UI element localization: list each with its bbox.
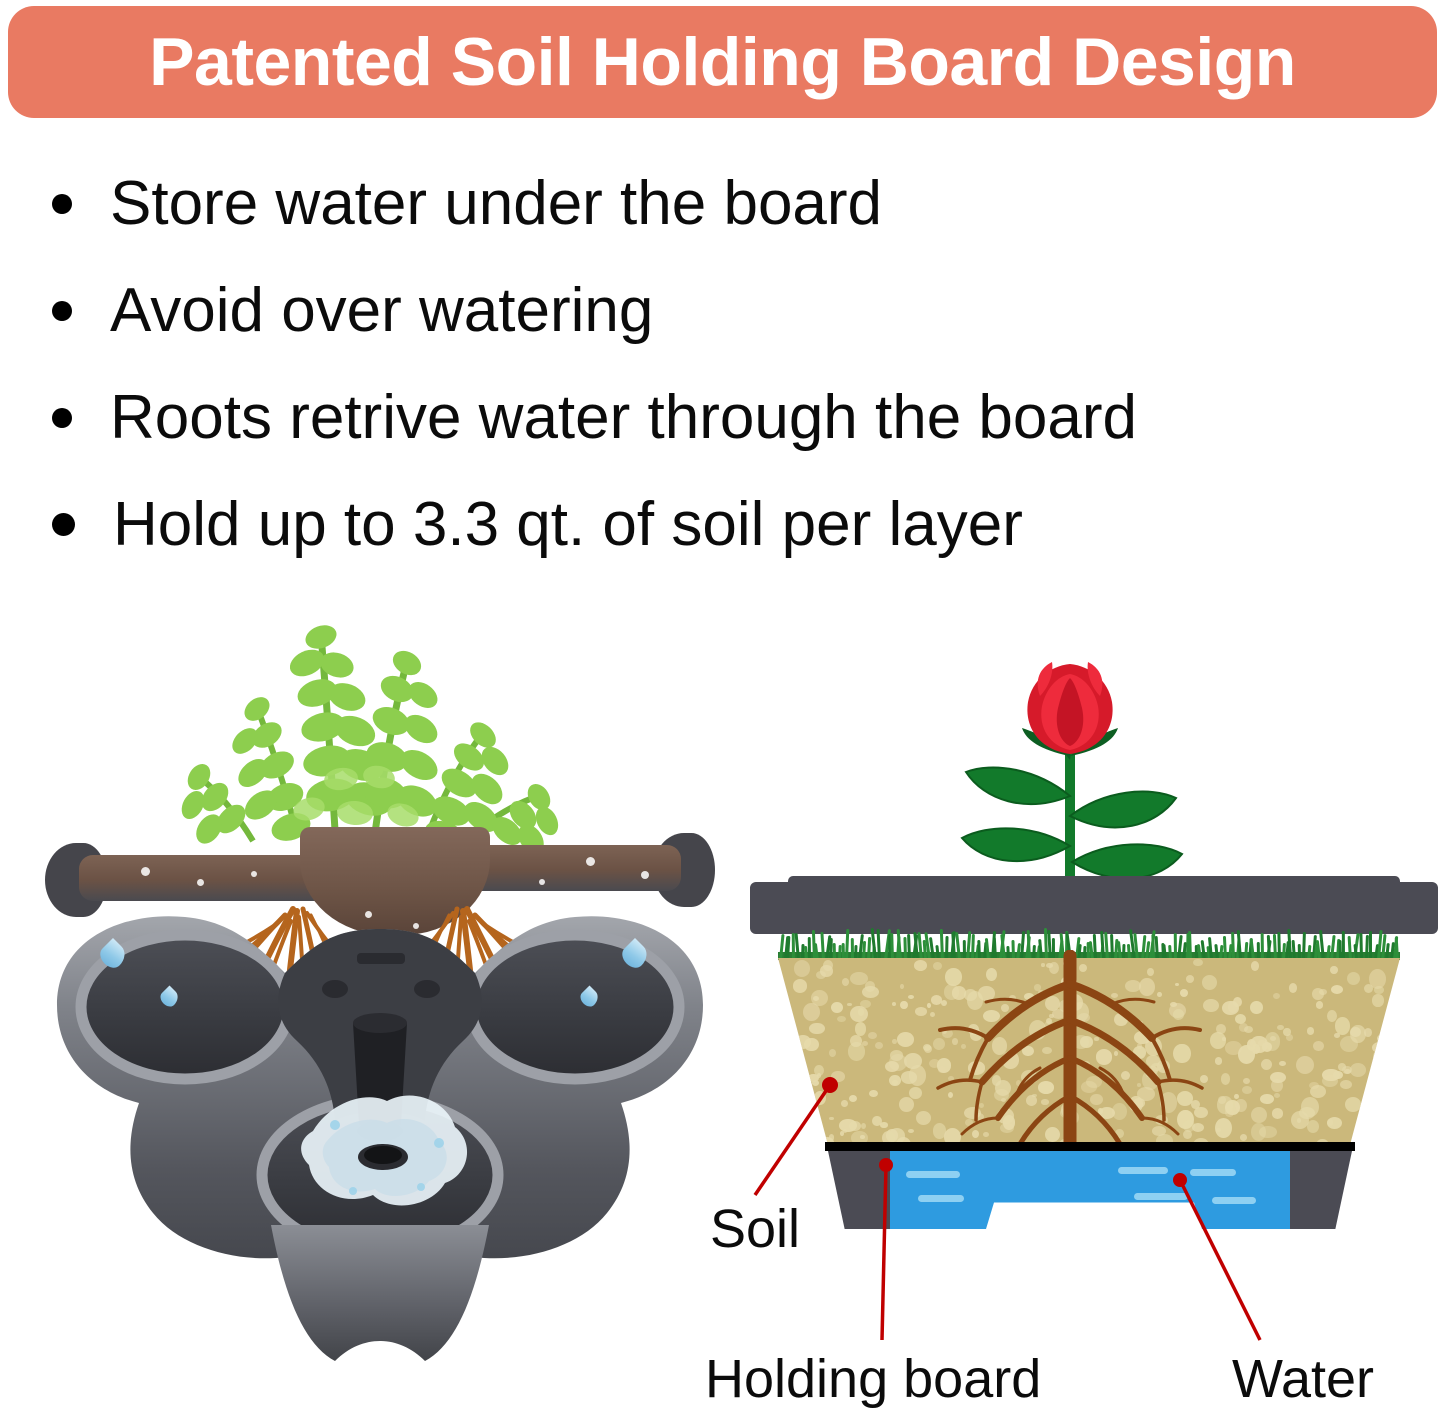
feature-bullet-list: Store water under the board Avoid over w…: [0, 150, 1445, 578]
water-wave: [906, 1171, 960, 1178]
holding-board-line: [825, 1142, 1355, 1151]
pot-wall-right: [1288, 1151, 1352, 1229]
bullet-dot-icon: [52, 513, 75, 536]
water-wave: [918, 1195, 964, 1202]
list-item: Avoid over watering: [0, 257, 1445, 364]
water-speck: [251, 871, 257, 877]
rose-plant-icon: [740, 650, 1445, 900]
list-item: Hold up to 3.3 qt. of soil per layer: [0, 471, 1445, 578]
list-item: Store water under the board: [0, 150, 1445, 257]
water-speck: [641, 871, 649, 879]
page-title: Patented Soil Holding Board Design: [149, 28, 1296, 96]
label-soil: Soil: [710, 1202, 800, 1256]
pot-wall-left: [828, 1151, 892, 1229]
bullet-text: Hold up to 3.3 qt. of soil per layer: [113, 494, 1023, 556]
bullet-text: Store water under the board: [110, 173, 882, 235]
list-item: Roots retrive water through the board: [0, 364, 1445, 471]
water-speck: [141, 867, 150, 876]
water-reservoir: [828, 1151, 1352, 1239]
planter-shape: [35, 895, 725, 1365]
stacking-planter-body: [35, 895, 725, 1365]
cross-section-diagram: [740, 650, 1445, 1250]
bullet-text: Avoid over watering: [110, 280, 653, 342]
product-photo-stacking-planter: [35, 565, 725, 1365]
water-wave: [1152, 1215, 1192, 1222]
water-speck: [539, 879, 545, 885]
water-wave: [1134, 1193, 1188, 1200]
plant-foliage-icon: [35, 565, 725, 865]
water-wave: [1212, 1197, 1256, 1204]
water-wave: [1190, 1169, 1236, 1176]
label-water: Water: [1232, 1352, 1374, 1406]
bullet-dot-icon: [52, 194, 72, 214]
water-wave: [1118, 1167, 1168, 1174]
water-speck: [197, 879, 204, 886]
water-body: [890, 1151, 1290, 1229]
bullet-dot-icon: [52, 301, 72, 321]
label-holding-board: Holding board: [705, 1352, 1041, 1406]
bullet-text: Roots retrive water through the board: [110, 387, 1137, 449]
bullet-dot-icon: [52, 408, 72, 428]
water-speck: [586, 857, 595, 866]
header-banner: Patented Soil Holding Board Design: [8, 6, 1437, 118]
